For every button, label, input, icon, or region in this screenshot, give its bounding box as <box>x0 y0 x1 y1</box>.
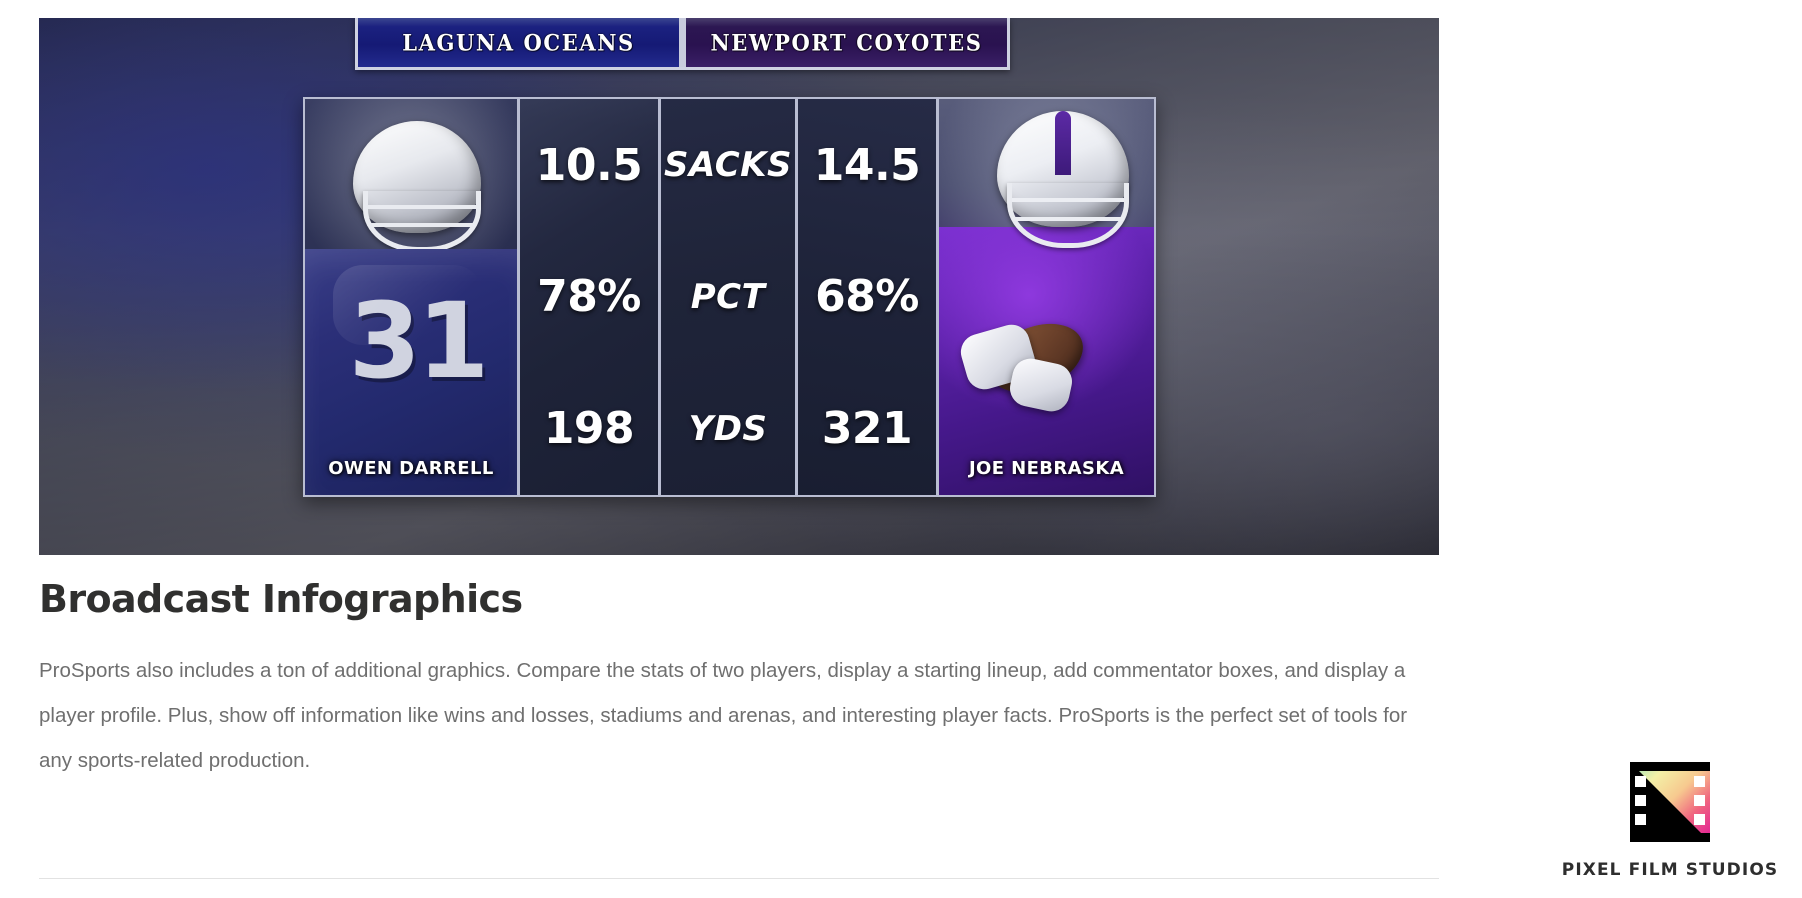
left-player-photo-panel: 31 OWEN DARRELL <box>305 99 520 495</box>
article-section: Broadcast Infographics ProSports also in… <box>39 578 1439 783</box>
brand-logo-caption: PIXEL FILM STUDIOS <box>1560 860 1780 880</box>
film-strip-icon <box>1624 758 1716 850</box>
article-paragraph: ProSports also includes a ton of additio… <box>39 648 1429 783</box>
page-title: Broadcast Infographics <box>39 578 1439 622</box>
right-stat-cell-1: 68% <box>798 231 936 363</box>
stat-label-sacks: SACKS <box>664 145 792 185</box>
left-stat-value-sacks: 10.5 <box>536 140 643 191</box>
right-stat-value-sacks: 14.5 <box>814 140 921 191</box>
left-stat-cell-1: 78% <box>520 231 658 363</box>
right-stat-value-pct: 68% <box>815 271 919 322</box>
team-banner-divider <box>679 18 686 67</box>
stat-label-cell-0: SACKS <box>661 99 795 231</box>
left-player-facemask-icon <box>363 191 481 252</box>
brand-logo: PIXEL FILM STUDIOS <box>1560 758 1780 880</box>
right-player-name: JOE NEBRASKA <box>939 458 1154 479</box>
team-banner-away: NEWPORT COYOTES <box>686 18 1010 67</box>
right-stat-cell-2: 321 <box>798 363 936 495</box>
section-divider <box>39 878 1439 879</box>
team-banner: LAGUNA OCEANS NEWPORT COYOTES <box>355 18 1010 70</box>
right-stat-cell-0: 14.5 <box>798 99 936 231</box>
right-stat-values-column: 14.5 68% 321 <box>798 99 939 495</box>
left-stat-values-column: 10.5 78% 198 <box>520 99 661 495</box>
right-player-helmet-stripe <box>1055 111 1071 175</box>
stat-labels-column: SACKS PCT YDS <box>661 99 798 495</box>
team-banner-home: LAGUNA OCEANS <box>355 18 679 67</box>
left-player-name: OWEN DARRELL <box>305 458 517 479</box>
stat-label-yds: YDS <box>689 409 768 449</box>
left-stat-cell-2: 198 <box>520 363 658 495</box>
stat-label-cell-1: PCT <box>661 231 795 363</box>
stat-label-cell-2: YDS <box>661 363 795 495</box>
away-team-name: NEWPORT COYOTES <box>711 29 983 56</box>
stat-label-pct: PCT <box>691 277 766 317</box>
broadcast-infographic-image: LAGUNA OCEANS NEWPORT COYOTES 31 OWEN DA… <box>39 18 1439 555</box>
right-stat-value-yds: 321 <box>822 403 912 454</box>
left-stat-value-yds: 198 <box>544 403 634 454</box>
left-stat-cell-0: 10.5 <box>520 99 658 231</box>
player-comparison-strip: 31 OWEN DARRELL 10.5 78% 198 <box>303 97 1156 497</box>
page-root: LAGUNA OCEANS NEWPORT COYOTES 31 OWEN DA… <box>0 0 1802 898</box>
left-stat-value-pct: 78% <box>537 271 641 322</box>
right-player-photo-panel: JOE NEBRASKA <box>939 99 1154 495</box>
home-team-name: LAGUNA OCEANS <box>402 29 635 56</box>
left-player-jersey-number: 31 <box>327 289 507 393</box>
